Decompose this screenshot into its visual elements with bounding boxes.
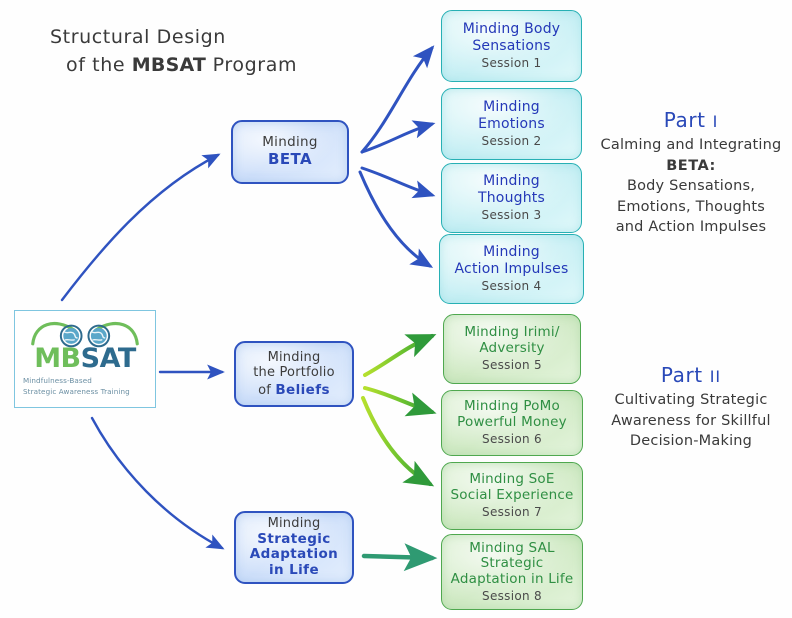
session-8-line-1: Minding SAL bbox=[469, 541, 554, 557]
part-1-body-line-3: Emotions, Thoughts bbox=[592, 197, 790, 218]
part-1-body-line-1: Calming and Integrating bbox=[592, 135, 790, 156]
session-1-line-2: Sensations bbox=[472, 38, 550, 54]
title-mbsat: MBSAT bbox=[132, 54, 206, 76]
arrow-portfolio-to-session-7 bbox=[363, 398, 430, 484]
session-4-line-1: Minding bbox=[483, 244, 540, 260]
node-minding-beta[interactable]: Minding BETA bbox=[231, 120, 349, 184]
session-8-line-3: Adaptation in Life bbox=[451, 572, 574, 588]
session-5-line-2: Adversity bbox=[479, 341, 544, 357]
session-3-label: Session 3 bbox=[482, 209, 542, 223]
node-session-3[interactable]: Minding Thoughts Session 3 bbox=[441, 163, 582, 233]
node-beta-line-1: Minding bbox=[262, 135, 318, 151]
node-portfolio-of: of bbox=[258, 383, 275, 398]
session-6-label: Session 6 bbox=[482, 433, 542, 447]
session-7-label: Session 7 bbox=[482, 506, 542, 520]
page-title: Structural Design of the MBSAT Program bbox=[50, 24, 380, 79]
session-2-line-1: Minding bbox=[483, 99, 540, 115]
part-2-heading-number: II bbox=[710, 367, 721, 386]
session-2-line-2: Emotions bbox=[478, 116, 545, 132]
arrow-portfolio-to-session-6 bbox=[365, 388, 432, 412]
session-8-label: Session 8 bbox=[482, 590, 542, 604]
part-2-body: Cultivating Strategic Awareness for Skil… bbox=[592, 390, 790, 452]
logo-wordmark: MBSAT bbox=[15, 345, 155, 372]
arrow-beta-to-session-2 bbox=[362, 124, 432, 152]
node-session-2[interactable]: Minding Emotions Session 2 bbox=[441, 88, 582, 160]
part-2-heading: Part II bbox=[592, 363, 790, 387]
title-prefix: of the bbox=[66, 54, 132, 76]
title-line-1: Structural Design bbox=[50, 24, 380, 52]
node-portfolio-line-3: of Beliefs bbox=[258, 380, 330, 399]
session-7-line-2: Social Experience bbox=[450, 488, 573, 504]
node-sal-line-4: in Life bbox=[269, 563, 319, 579]
part-1-heading: Part I bbox=[592, 108, 790, 132]
arrow-beta-to-session-3 bbox=[362, 168, 432, 195]
session-4-label: Session 4 bbox=[482, 280, 542, 294]
mbsat-logo: MBSAT Mindfulness-Based Strategic Awaren… bbox=[14, 310, 156, 408]
arrow-portfolio-to-session-5 bbox=[365, 336, 432, 375]
logo-subtitle: Mindfulness-Based Strategic Awareness Tr… bbox=[15, 376, 155, 398]
node-session-5[interactable]: Minding Irimi/ Adversity Session 5 bbox=[443, 314, 581, 384]
part-2-caption: Part II Cultivating Strategic Awareness … bbox=[592, 363, 790, 452]
part-1-body-line-2: Body Sensations, bbox=[592, 176, 790, 197]
part-1-body: Calming and Integrating BETA: Body Sensa… bbox=[592, 135, 790, 238]
session-7-line-1: Minding SoE bbox=[469, 472, 554, 488]
part-2-body-line-2: Awareness for Skillful bbox=[592, 411, 790, 432]
logo-subtitle-line-2: Strategic Awareness Training bbox=[23, 387, 155, 398]
session-1-line-1: Minding Body bbox=[463, 21, 561, 37]
node-session-6[interactable]: Minding PoMo Powerful Money Session 6 bbox=[441, 390, 583, 456]
node-session-4[interactable]: Minding Action Impulses Session 4 bbox=[439, 234, 584, 304]
session-1-label: Session 1 bbox=[482, 57, 542, 71]
part-1-body-line-4: and Action Impulses bbox=[592, 217, 790, 238]
arrow-beta-to-session-4 bbox=[360, 172, 430, 266]
node-sal-line-2: Strategic bbox=[257, 532, 330, 548]
part-1-heading-number: I bbox=[713, 112, 719, 131]
node-session-7[interactable]: Minding SoE Social Experience Session 7 bbox=[441, 462, 583, 530]
part-2-body-line-3: Decision-Making bbox=[592, 431, 790, 452]
part-2-heading-word: Part bbox=[661, 363, 703, 387]
arrow-sal-to-session-8 bbox=[364, 556, 432, 558]
session-6-line-1: Minding PoMo bbox=[464, 399, 560, 415]
arrow-layer bbox=[0, 0, 792, 618]
session-5-line-1: Minding Irimi/ bbox=[464, 325, 559, 341]
session-2-label: Session 2 bbox=[482, 135, 542, 149]
part-2-body-line-1: Cultivating Strategic bbox=[592, 390, 790, 411]
node-portfolio-line-1: Minding bbox=[268, 350, 321, 365]
arrow-logo-to-sal bbox=[92, 418, 222, 548]
node-beta-line-2: BETA bbox=[268, 151, 312, 168]
title-line-2: of the MBSAT Program bbox=[50, 52, 380, 80]
node-session-8[interactable]: Minding SAL Strategic Adaptation in Life… bbox=[441, 534, 583, 610]
node-minding-portfolio-of-beliefs[interactable]: Minding the Portfolio of Beliefs bbox=[234, 341, 354, 407]
session-3-line-2: Thoughts bbox=[478, 190, 545, 206]
session-5-label: Session 5 bbox=[482, 359, 542, 373]
logo-subtitle-line-1: Mindfulness-Based bbox=[23, 376, 155, 387]
session-4-line-2: Action Impulses bbox=[455, 261, 569, 277]
logo-wordmark-mb: MB bbox=[34, 343, 80, 374]
part-1-heading-word: Part bbox=[664, 108, 706, 132]
part-1-body-beta: BETA: bbox=[592, 156, 790, 177]
node-session-1[interactable]: Minding Body Sensations Session 1 bbox=[441, 10, 582, 82]
node-sal-line-1: Minding bbox=[268, 516, 321, 531]
arrow-logo-to-beta bbox=[62, 155, 218, 300]
part-1-caption: Part I Calming and Integrating BETA: Bod… bbox=[592, 108, 790, 238]
node-sal-line-3: Adaptation bbox=[250, 547, 338, 563]
node-portfolio-line-2: the Portfolio bbox=[253, 365, 335, 380]
node-portfolio-beliefs: Beliefs bbox=[275, 382, 330, 398]
node-minding-strategic-adaptation-in-life[interactable]: Minding Strategic Adaptation in Life bbox=[234, 511, 354, 584]
session-3-line-1: Minding bbox=[483, 173, 540, 189]
logo-wordmark-sat: SAT bbox=[81, 343, 136, 374]
title-suffix: Program bbox=[206, 54, 297, 76]
session-6-line-2: Powerful Money bbox=[457, 415, 567, 431]
diagram-canvas: Structural Design of the MBSAT Program M… bbox=[0, 0, 792, 618]
session-8-line-2: Strategic bbox=[481, 556, 544, 572]
